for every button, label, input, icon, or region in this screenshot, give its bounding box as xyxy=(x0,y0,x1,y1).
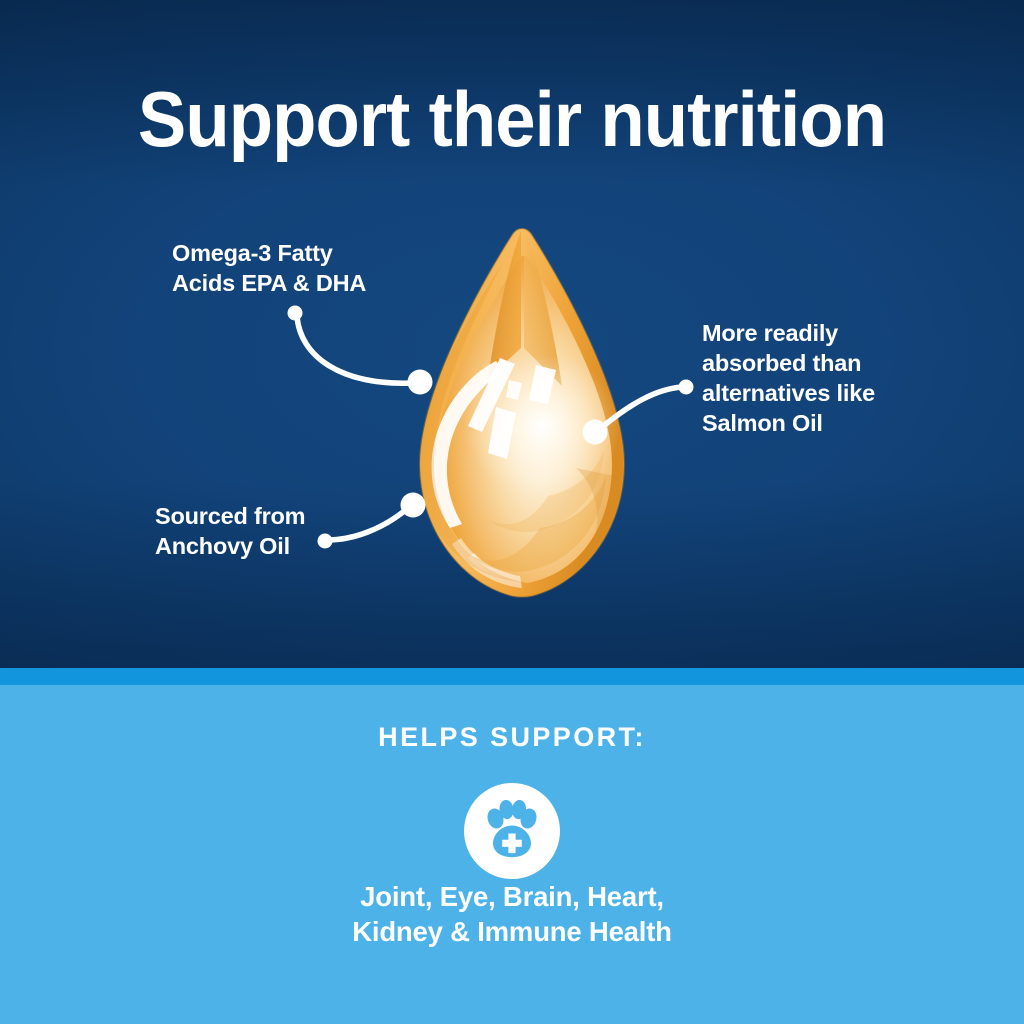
paw-medical-cross-icon xyxy=(464,783,560,879)
benefits-list: Joint, Eye, Brain, Heart, Kidney & Immun… xyxy=(0,879,1024,949)
divider-stripe xyxy=(0,668,1024,685)
callout-absorption: More readily absorbed than alternatives … xyxy=(702,318,875,438)
callout-omega-3: Omega-3 Fatty Acids EPA & DHA xyxy=(172,238,366,298)
page-title: Support their nutrition xyxy=(36,76,988,162)
oil-droplet-graphic xyxy=(390,228,660,606)
callout-source: Sourced from Anchovy Oil xyxy=(155,501,305,561)
product-infographic-poster: Support their nutrition xyxy=(0,0,1024,1024)
helps-support-heading: HELPS SUPPORT: xyxy=(0,722,1024,753)
